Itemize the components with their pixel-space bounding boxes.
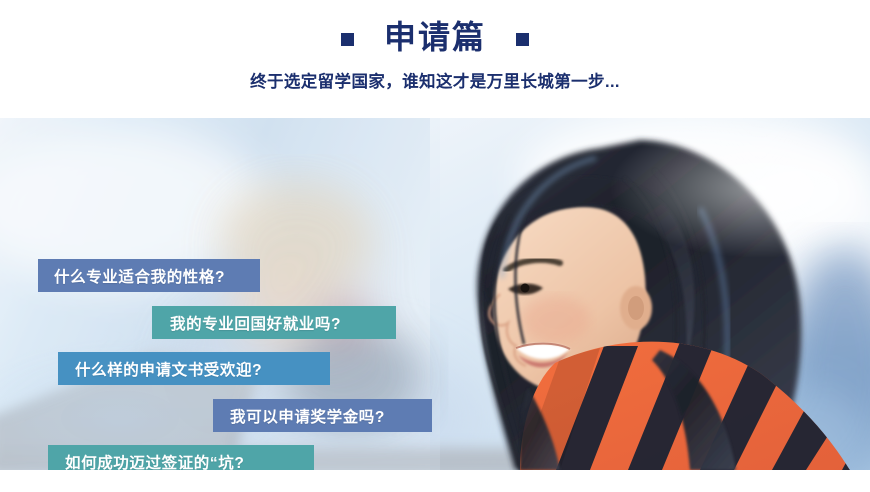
question-banner-3[interactable]: 什么样的申请文书受欢迎? [58,352,330,385]
hero-photo: 什么专业适合我的性格? 我的专业回国好就业吗? 什么样的申请文书受欢迎? 我可以… [0,118,870,470]
question-banner-1[interactable]: 什么专业适合我的性格? [38,259,260,292]
question-banner-4[interactable]: 我可以申请奖学金吗? [213,399,432,432]
question-banner-1-label: 什么专业适合我的性格? [54,265,225,287]
hero-photo-illustration [0,118,870,470]
question-banner-2[interactable]: 我的专业回国好就业吗? [152,306,396,339]
question-banner-3-label: 什么样的申请文书受欢迎? [75,358,262,380]
square-bullet-left-icon [341,33,354,46]
footer-strip [0,470,870,492]
question-banner-4-label: 我可以申请奖学金吗? [230,405,385,427]
question-banner-5[interactable]: 如何成功迈过签证的“坑? [48,445,314,470]
page-subtitle: 终于选定留学国家，谁知这才是万里长城第一步... [0,68,870,92]
page-title: 申请篇 [384,18,486,56]
square-bullet-right-icon [516,33,529,46]
question-banner-2-label: 我的专业回国好就业吗? [170,312,341,334]
promo-banner-page: 申请篇 终于选定留学国家，谁知这才是万里长城第一步... [0,0,870,492]
title-row: 申请篇 [0,18,870,56]
question-banner-5-label: 如何成功迈过签证的“坑? [65,451,244,471]
header-section: 申请篇 终于选定留学国家，谁知这才是万里长城第一步... [0,0,870,118]
